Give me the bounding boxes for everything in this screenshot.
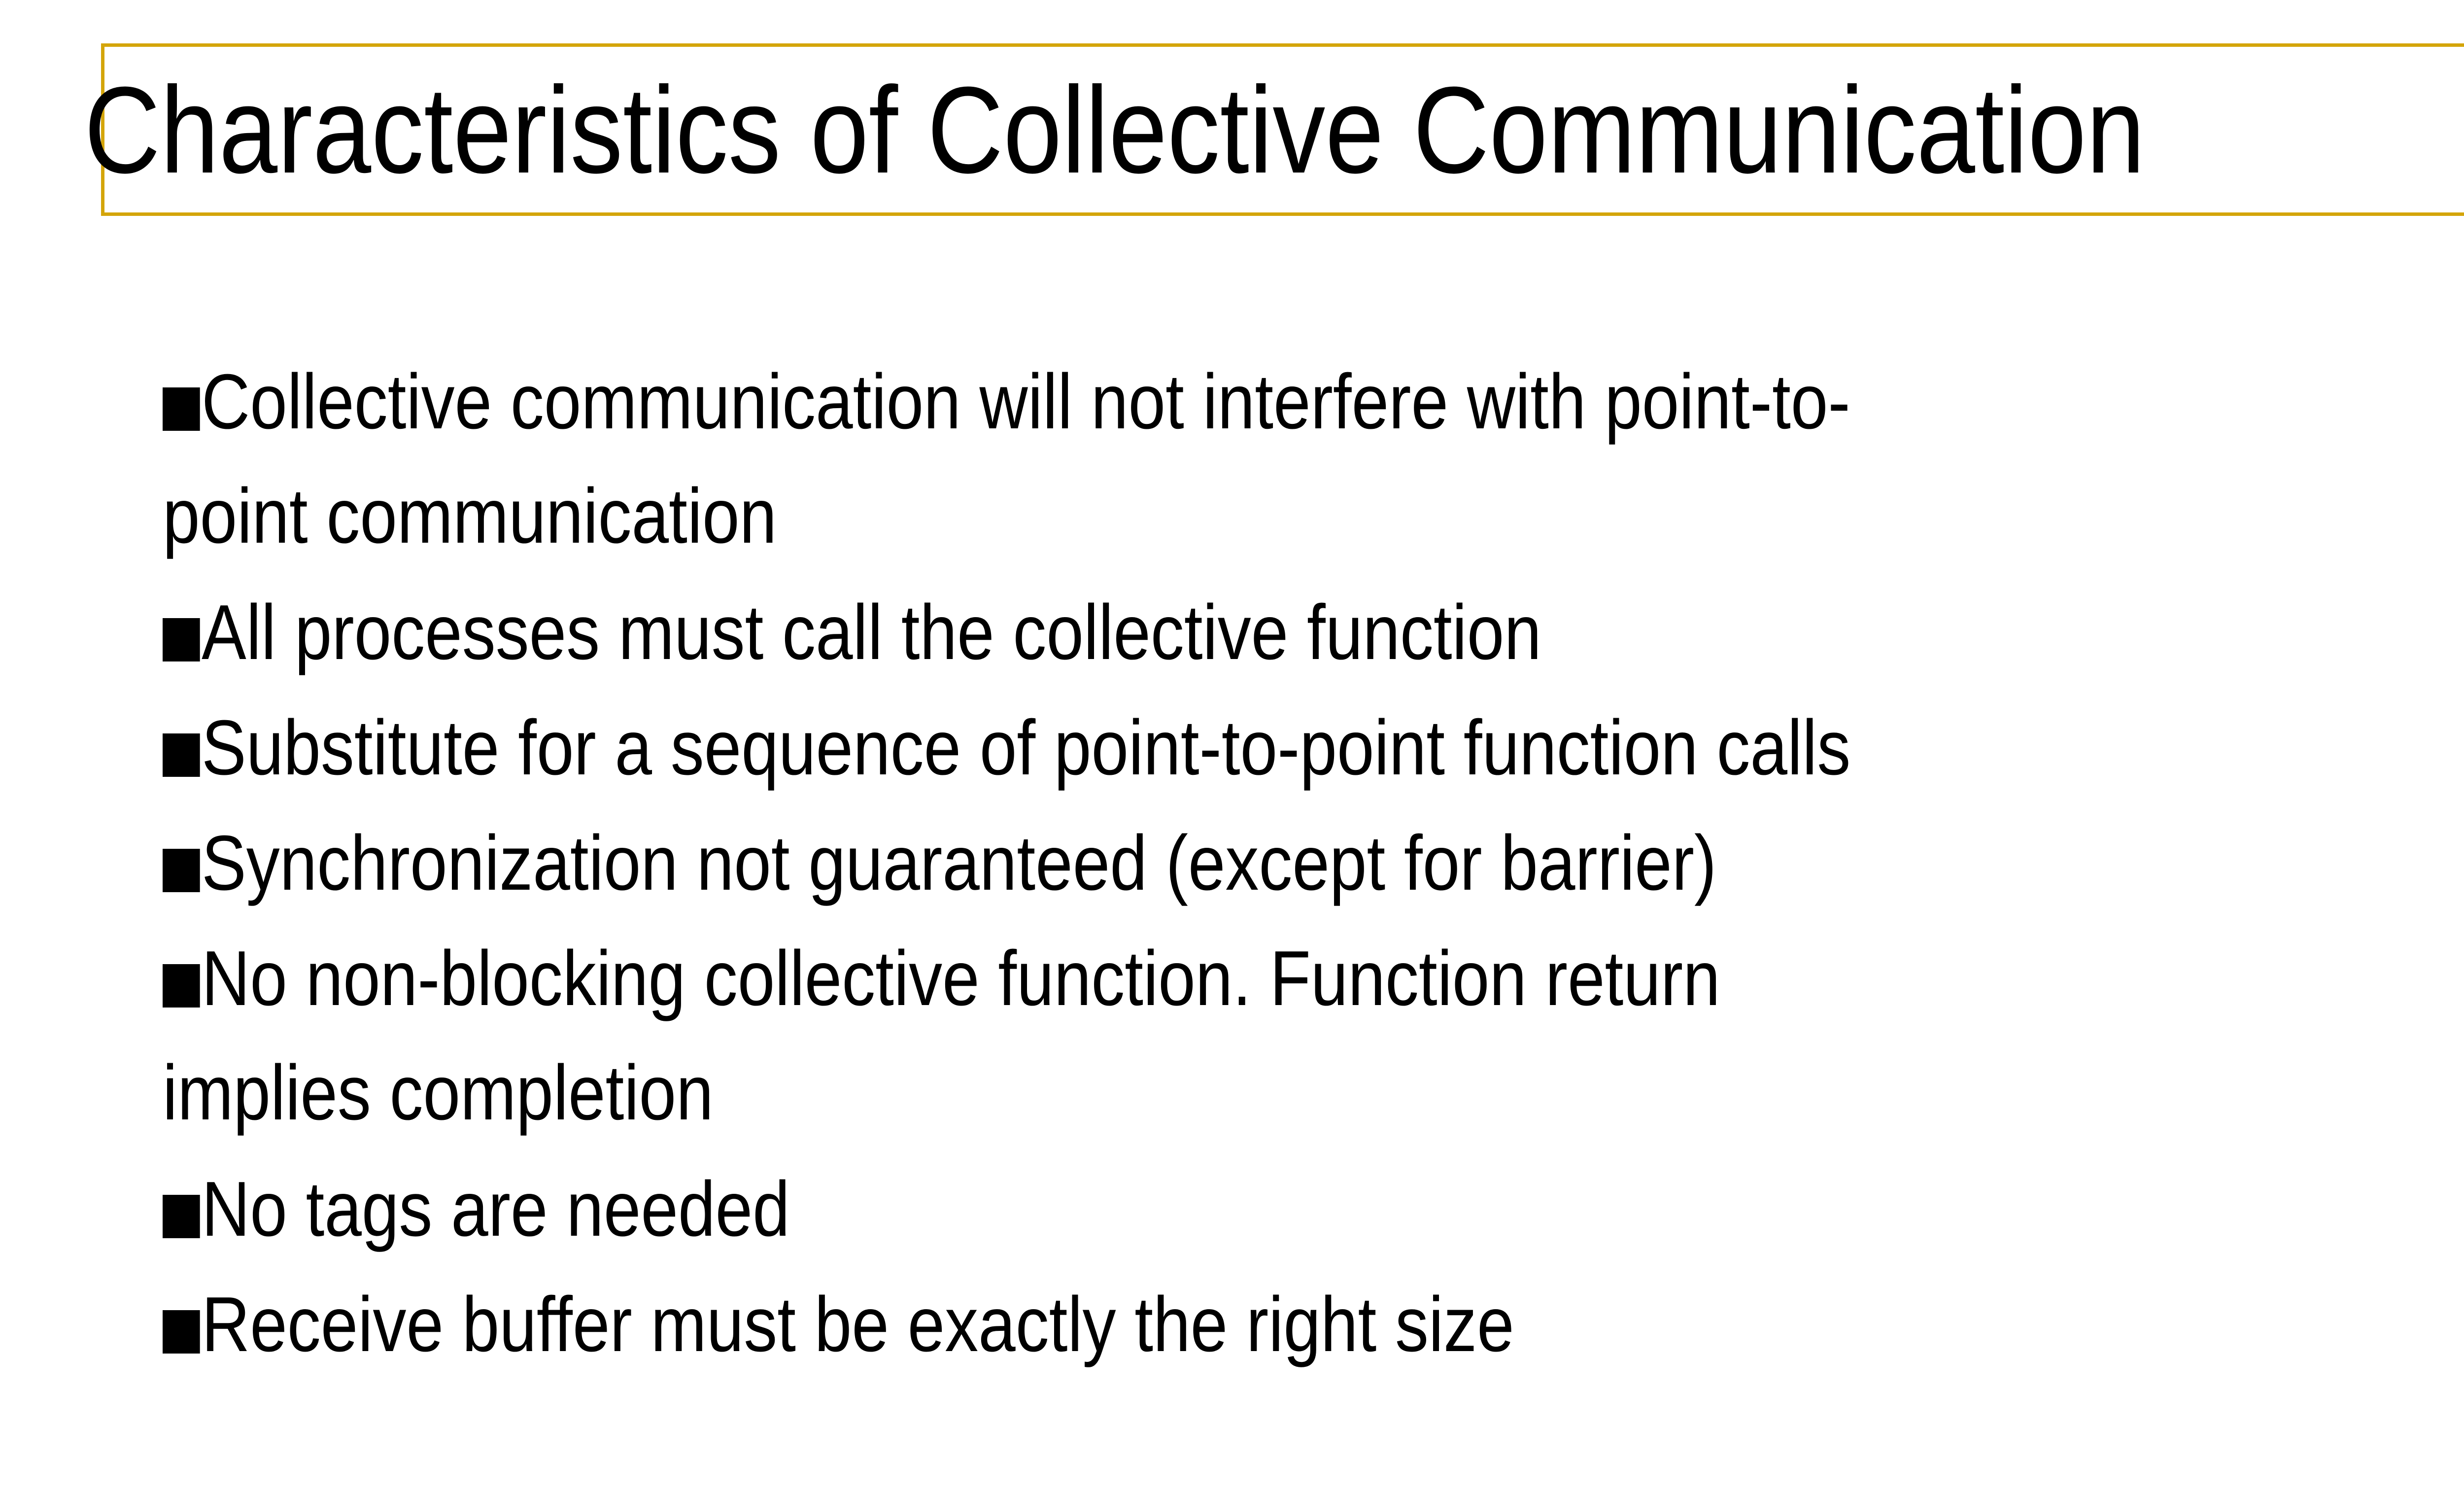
bullet-line: All processes must call the collective f… (163, 576, 2464, 689)
bullet-line-inner: No non-blocking collective function. Fun… (163, 922, 1720, 1035)
bullet-text: implies completion (163, 1049, 714, 1136)
slide-canvas: Characteristics of Collective Communicat… (0, 0, 2464, 1495)
bullet-line-continuation: implies completion (163, 1036, 2464, 1149)
bullet-line-inner: Synchronization not guaranteed (except f… (163, 806, 1716, 920)
bullet-line-inner: Collective communication will not interf… (163, 345, 1850, 458)
bullet-text: No tags are needed (202, 1166, 790, 1252)
bullet-text: Collective communication will not interf… (202, 358, 1850, 445)
bullet-line-inner: All processes must call the collective f… (163, 576, 1541, 689)
square-bullet-icon (163, 964, 200, 1008)
bullet-line-continuation: point communication (163, 459, 2464, 573)
bullet-line: Collective communication will not interf… (163, 345, 2464, 458)
bullet-line-inner: implies completion (163, 1036, 714, 1149)
body-placeholder[interactable]: Collective communication will not interf… (163, 345, 2464, 1469)
square-bullet-icon (163, 1195, 200, 1238)
bullet-text: Synchronization not guaranteed (except f… (202, 820, 1716, 906)
square-bullet-icon (163, 1310, 200, 1354)
bullet-line: No tags are needed (163, 1152, 2464, 1266)
bullet-line-inner: No tags are needed (163, 1152, 790, 1266)
bullet-line-inner: point communication (163, 459, 777, 573)
bullet-text: Substitute for a sequence of point-to-po… (202, 704, 1850, 791)
title-placeholder-border (101, 43, 2464, 216)
square-bullet-icon (163, 618, 200, 661)
square-bullet-icon (163, 387, 200, 431)
bullet-text: All processes must call the collective f… (202, 589, 1541, 676)
bullet-text: No non-blocking collective function. Fun… (202, 935, 1720, 1022)
bullet-line: Synchronization not guaranteed (except f… (163, 806, 2464, 920)
square-bullet-icon (163, 733, 200, 777)
bullet-text: point communication (163, 473, 777, 559)
bullet-line: Substitute for a sequence of point-to-po… (163, 691, 2464, 804)
bullet-line-inner: Substitute for a sequence of point-to-po… (163, 691, 1850, 804)
bullet-line: No non-blocking collective function. Fun… (163, 922, 2464, 1035)
bullet-line: Receive buffer must be exactly the right… (163, 1268, 2464, 1381)
bullet-text: Receive buffer must be exactly the right… (202, 1281, 1514, 1368)
bullet-line-inner: Receive buffer must be exactly the right… (163, 1268, 1514, 1381)
square-bullet-icon (163, 849, 200, 892)
